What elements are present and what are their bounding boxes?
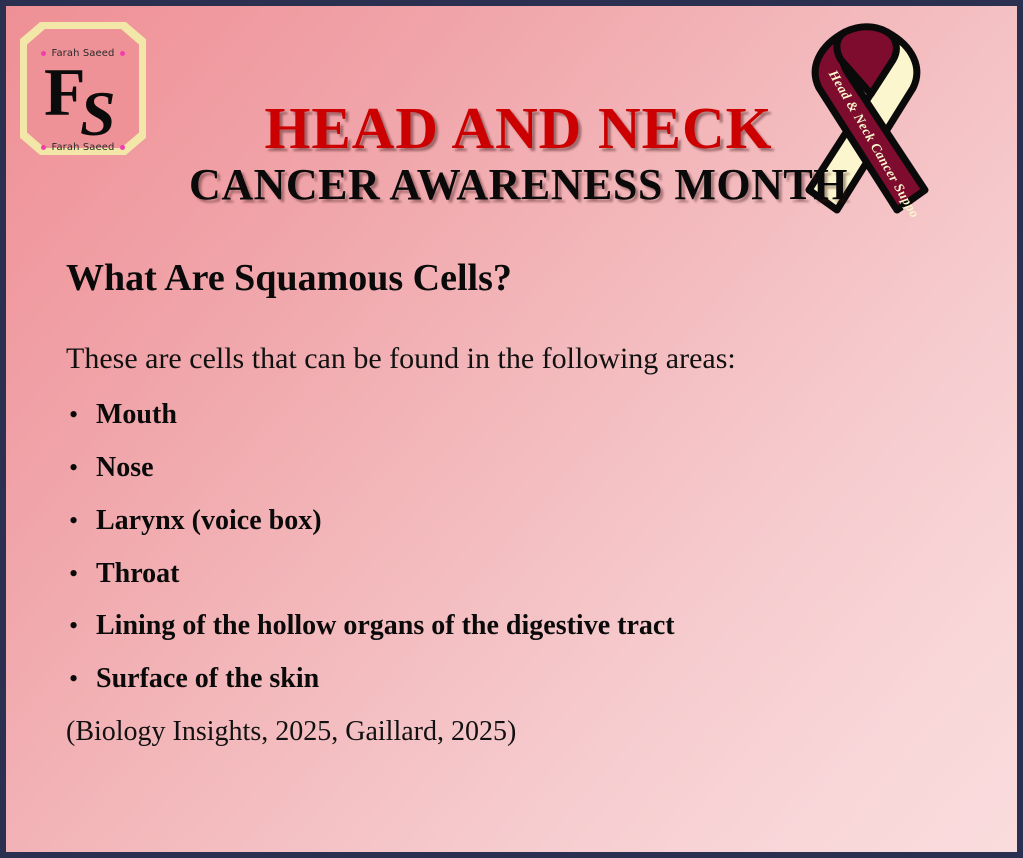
list-item: •Mouth: [60, 400, 977, 431]
section-heading: What Are Squamous Cells?: [66, 258, 977, 300]
bullet-marker-icon: •: [60, 613, 96, 639]
list-item-label: Lining of the hollow organs of the diges…: [96, 611, 675, 642]
logo-monogram-s: S: [80, 82, 116, 146]
list-item: •Lining of the hollow organs of the dige…: [60, 611, 977, 642]
logo-monogram: F S: [20, 58, 146, 142]
bullet-marker-icon: •: [60, 508, 96, 534]
logo-dot-right-icon: [120, 51, 125, 56]
slide-canvas: Farah Saeed F S Farah Saeed Head & Ne: [0, 0, 1023, 858]
list-item: •Surface of the skin: [60, 664, 977, 695]
list-item-label: Nose: [96, 453, 154, 484]
bullet-marker-icon: •: [60, 666, 96, 692]
bullet-marker-icon: •: [60, 455, 96, 481]
list-item-label: Surface of the skin: [96, 664, 319, 695]
logo-name-bottom-label: Farah Saeed: [52, 142, 115, 153]
bullet-marker-icon: •: [60, 561, 96, 587]
logo-name-bottom-row: Farah Saeed: [20, 142, 146, 153]
intro-paragraph: These are cells that can be found in the…: [66, 342, 977, 377]
list-item: •Nose: [60, 453, 977, 484]
logo-dot-left-lower-icon: [41, 145, 46, 150]
bullet-marker-icon: •: [60, 402, 96, 428]
squamous-cell-locations-list: •Mouth•Nose•Larynx (voice box)•Throat•Li…: [60, 400, 977, 695]
list-item-label: Mouth: [96, 400, 177, 431]
list-item-label: Larynx (voice box): [96, 506, 322, 537]
list-item: •Larynx (voice box): [60, 506, 977, 537]
logo-farah-saeed: Farah Saeed F S Farah Saeed: [20, 22, 146, 155]
list-item: •Throat: [60, 559, 977, 590]
logo-dot-right-lower-icon: [120, 145, 125, 150]
list-item-label: Throat: [96, 559, 180, 590]
content-area: What Are Squamous Cells? These are cells…: [60, 258, 977, 748]
awareness-ribbon-icon: Head & Neck Cancer Support: [801, 12, 931, 242]
citation-text: (Biology Insights, 2025, Gaillard, 2025): [66, 717, 977, 748]
